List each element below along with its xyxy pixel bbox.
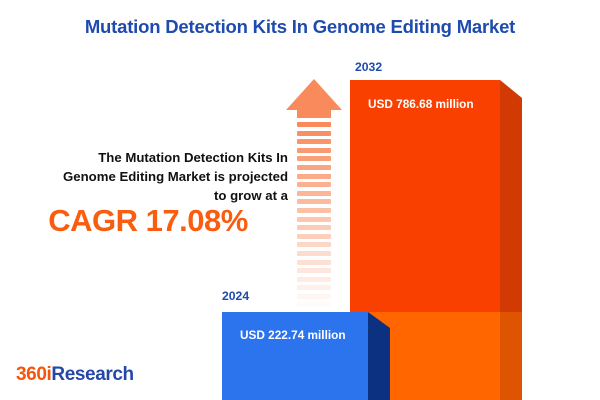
arrow-stripe — [297, 208, 331, 213]
arrow-stripe — [297, 225, 331, 230]
bar-year-label-2032: 2032 — [355, 60, 382, 74]
logo-part-research: Research — [51, 364, 133, 385]
bar-2024-side — [368, 312, 390, 400]
page-title: Mutation Detection Kits In Genome Editin… — [0, 16, 600, 38]
infographic-canvas: Mutation Detection Kits In Genome Editin… — [0, 0, 600, 400]
arrow-stripe — [297, 182, 331, 187]
arrow-neck — [297, 110, 331, 118]
arrow-stripe — [297, 268, 331, 273]
arrow-stripe — [297, 242, 331, 247]
bar-2024-face — [222, 312, 368, 400]
arrow-stripe — [297, 302, 331, 307]
bar-value-label-2032: USD 786.68 million — [368, 97, 474, 111]
logo-part-360: 360 — [16, 364, 47, 385]
arrow-stripe — [297, 199, 331, 204]
arrow-stripe — [297, 174, 331, 179]
arrow-stripe — [297, 285, 331, 290]
arrow-stripe — [297, 217, 331, 222]
arrow-stripe — [297, 139, 331, 144]
arrow-stripe — [297, 131, 331, 136]
arrow-stripe — [297, 122, 331, 127]
arrow-stripe — [297, 191, 331, 196]
cagr-value: CAGR 17.08% — [8, 203, 288, 239]
bar-value-label-2024: USD 222.74 million — [240, 328, 346, 342]
arrow-shaft-stripes — [297, 122, 331, 307]
arrow-stripe — [297, 277, 331, 282]
arrow-head-icon — [286, 79, 342, 110]
arrow-stripe — [297, 260, 331, 265]
arrow-stripe — [297, 148, 331, 153]
statement-line-2: Genome Editing Market is projected — [8, 167, 288, 186]
brand-logo: 360iResearch — [16, 364, 134, 386]
arrow-stripe — [297, 156, 331, 161]
arrow-stripe — [297, 165, 331, 170]
arrow-stripe — [297, 234, 331, 239]
growth-statement: The Mutation Detection Kits In Genome Ed… — [8, 148, 288, 205]
bar-year-label-2024: 2024 — [222, 289, 249, 303]
statement-line-1: The Mutation Detection Kits In — [8, 148, 288, 167]
bar-2032-side-lower — [500, 312, 522, 400]
up-arrow-icon — [286, 79, 342, 309]
arrow-stripe — [297, 294, 331, 299]
arrow-stripe — [297, 251, 331, 256]
bar-2024 — [222, 312, 390, 400]
